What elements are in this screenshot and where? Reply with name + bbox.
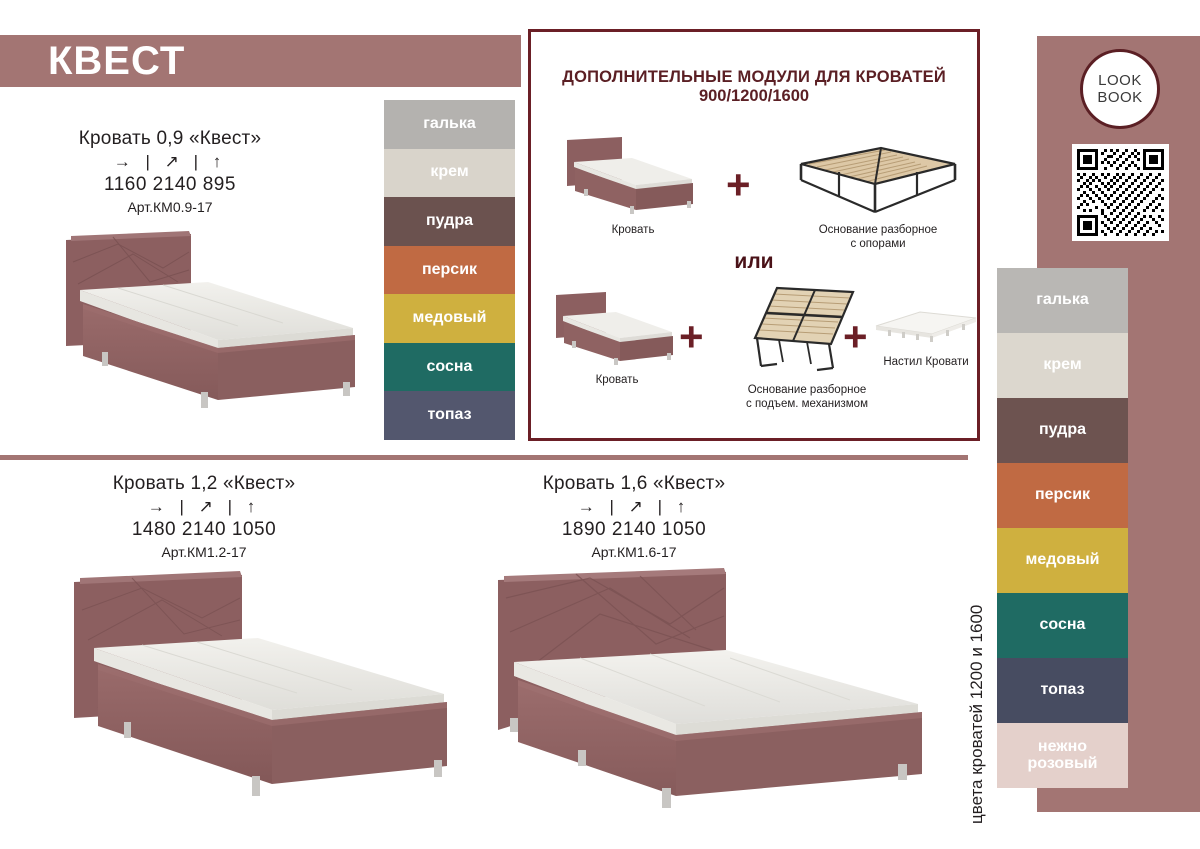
modules-heading: ДОПОЛНИТЕЛЬНЫЕ МОДУЛИ ДЛЯ КРОВАТЕЙ 900/1… (531, 32, 977, 107)
color-swatch[interactable]: топаз (384, 391, 515, 440)
color-swatch-label: пудра (1039, 422, 1086, 439)
module-bed: Кровать (553, 134, 713, 238)
color-swatch[interactable]: крем (384, 149, 515, 198)
color-swatch[interactable]: пудра (384, 197, 515, 246)
color-swatch-label: крем (1043, 357, 1081, 374)
color-swatch-label: топаз (1040, 682, 1084, 699)
color-swatch-label: топаз (427, 407, 471, 424)
bed-dimensions: 1160 2140 895 (34, 174, 306, 196)
plus-icon: + (679, 316, 704, 358)
module-base-lift-mechanism: Основание разборное с подъем. механизмом (717, 282, 897, 412)
section-divider (0, 455, 968, 460)
bed-spec-0-9: Кровать 0,9 «Квест» → | ↗ | ↑ 1160 2140 … (34, 128, 306, 215)
color-swatch-label: сосна (427, 359, 473, 376)
bed-name: Кровать 1,2 «Квест» (62, 473, 346, 495)
module-base-with-legs: Основание разборное с опорами (783, 138, 973, 252)
color-swatch-label: нежно розовый (1028, 739, 1098, 773)
color-swatch[interactable]: медовый (384, 294, 515, 343)
palette-right-axis-label-text: цвета кроватей 1200 и 1600 (967, 605, 987, 824)
module-bed-2: Кровать (547, 290, 687, 388)
bed-image-1-6 (490, 558, 940, 818)
color-swatch-label: медовый (413, 310, 487, 327)
palette-right-axis-label: цвета кроватей 1200 и 1600 (963, 224, 991, 524)
color-swatch[interactable]: сосна (997, 593, 1128, 658)
qr-code[interactable] (1072, 144, 1169, 241)
color-swatch[interactable]: крем (997, 333, 1128, 398)
lookbook-badge[interactable]: LOOK BOOK (1080, 49, 1160, 129)
bed-image-1-2 (62, 560, 462, 810)
catalog-page: КВЕСТ Кровать 0,9 «Квест» → | ↗ | ↑ 1160… (0, 0, 1200, 849)
modules-heading-line2: 900/1200/1600 (531, 87, 977, 106)
color-swatch-label: персик (1035, 487, 1090, 504)
bed-article: Арт.КМ0.9-17 (34, 199, 306, 215)
color-swatch[interactable]: топаз (997, 658, 1128, 723)
dimension-arrows-icon: → | ↗ | ↑ (62, 497, 346, 517)
module-caption: Кровать (547, 374, 687, 388)
bed-article: Арт.КМ1.2-17 (62, 544, 346, 560)
module-base-with-legs-image (795, 138, 961, 220)
color-swatch-label: галька (423, 116, 475, 133)
color-swatch[interactable]: галька (997, 268, 1128, 333)
color-swatch[interactable]: сосна (384, 343, 515, 392)
modules-heading-line1: ДОПОЛНИТЕЛЬНЫЕ МОДУЛИ ДЛЯ КРОВАТЕЙ (531, 68, 977, 87)
color-swatch[interactable]: пудра (997, 398, 1128, 463)
bed-dimensions: 1890 2140 1050 (492, 519, 776, 541)
color-palette-right: галька крем пудра персик медовый сосна т… (997, 268, 1128, 788)
bed-spec-1-6: Кровать 1,6 «Квест» → | ↗ | ↑ 1890 2140 … (492, 473, 776, 560)
bed-spec-1-2: Кровать 1,2 «Квест» → | ↗ | ↑ 1480 2140 … (62, 473, 346, 560)
lookbook-line1: LOOK (1098, 72, 1142, 89)
lookbook-line2: BOOK (1097, 89, 1142, 106)
plus-icon: + (726, 164, 751, 206)
plus-icon: + (843, 316, 868, 358)
dimension-arrows-icon: → | ↗ | ↑ (492, 497, 776, 517)
color-swatch-label: крем (430, 164, 468, 181)
bed-name: Кровать 1,6 «Квест» (492, 473, 776, 495)
color-palette-left: галька крем пудра персик медовый сосна т… (384, 100, 515, 440)
color-swatch-label: галька (1036, 292, 1088, 309)
color-swatch[interactable]: персик (997, 463, 1128, 528)
bed-dimensions: 1480 2140 1050 (62, 519, 346, 541)
bed-name: Кровать 0,9 «Квест» (34, 128, 306, 150)
color-swatch[interactable]: персик (384, 246, 515, 295)
color-swatch-label: пудра (426, 213, 473, 230)
additional-modules-panel: ДОПОЛНИТЕЛЬНЫЕ МОДУЛИ ДЛЯ КРОВАТЕЙ 900/1… (528, 29, 980, 441)
color-swatch[interactable]: медовый (997, 528, 1128, 593)
module-bed-image (564, 134, 702, 220)
bed-image-0-9 (58, 222, 368, 422)
module-caption: Кровать (553, 224, 713, 238)
page-title-bar: КВЕСТ (0, 35, 521, 87)
module-bed-2-image (554, 290, 680, 370)
color-swatch-label: персик (422, 262, 477, 279)
page-title: КВЕСТ (0, 41, 185, 81)
color-swatch-label: медовый (1026, 552, 1100, 569)
module-caption: Основание разборное с подъем. механизмом (717, 384, 897, 412)
color-swatch[interactable]: галька (384, 100, 515, 149)
dimension-arrows-icon: → | ↗ | ↑ (34, 152, 306, 172)
color-swatch[interactable]: нежно розовый (997, 723, 1128, 788)
color-swatch-label: сосна (1040, 617, 1086, 634)
or-label: или (531, 250, 977, 274)
module-caption: Основание разборное с опорами (783, 224, 973, 252)
